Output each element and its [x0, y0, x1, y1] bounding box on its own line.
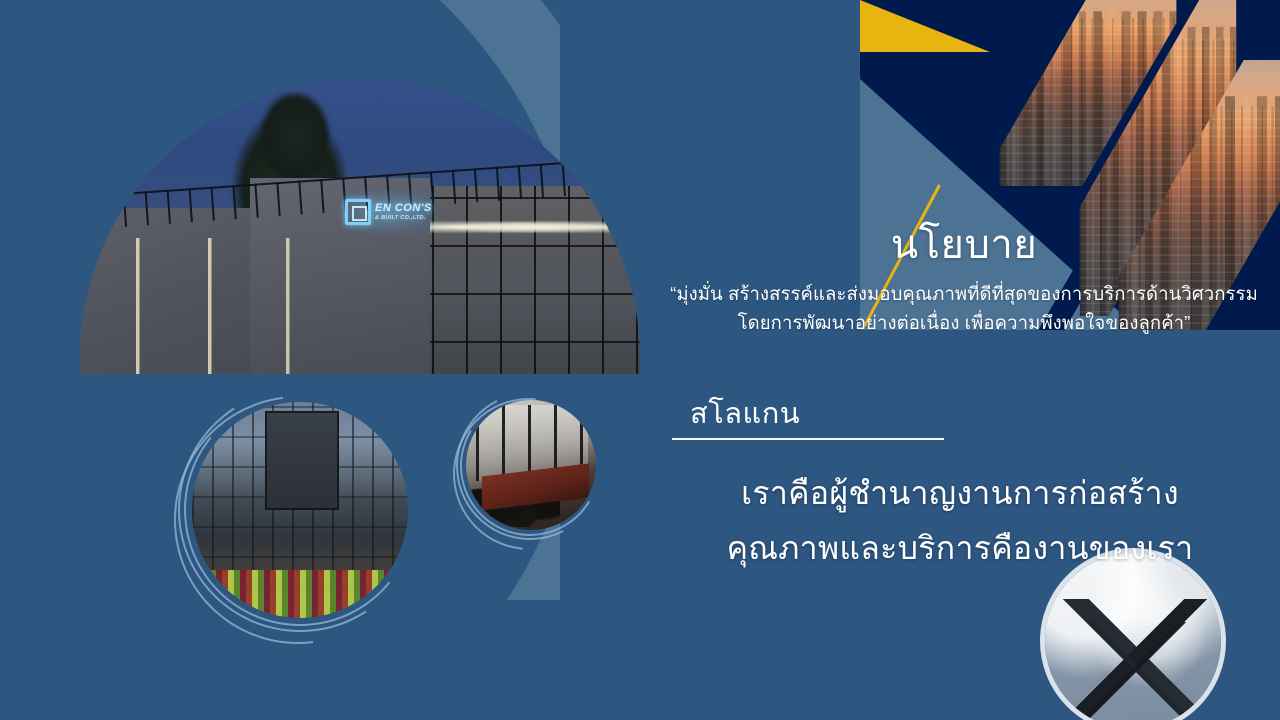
- slogan-divider: [672, 438, 944, 440]
- circle-photo-glass-facade: [192, 402, 408, 618]
- glass-curtain-wall: [398, 186, 640, 374]
- company-name-line1: EN CON'S: [375, 203, 432, 214]
- company-logo-icon: [345, 199, 371, 225]
- policy-quote-line1: “มุ่งมั่น สร้างสรรค์และส่งมอบคุณภาพที่ดี…: [648, 280, 1280, 309]
- policy-section: นโยบาย “มุ่งมั่น สร้างสรรค์และส่งมอบคุณภ…: [648, 222, 1280, 337]
- circle-photo-meeting-room: [466, 400, 596, 530]
- facade-light-slits: [100, 238, 400, 374]
- hero-building-photo: EN CON'S & BUILT CO.,LTD.: [80, 78, 640, 374]
- policy-quote: “มุ่งมั่น สร้างสรรค์และส่งมอบคุณภาพที่ดี…: [648, 280, 1280, 337]
- building-corner-shape: [1056, 599, 1218, 720]
- slogan-text: เราคือผู้ชำนาญงานการก่อสร้าง คุณภาพและบร…: [680, 466, 1240, 575]
- slide-canvas: EN CON'S & BUILT CO.,LTD.: [0, 0, 1280, 720]
- tower-block: [265, 411, 338, 510]
- sky-background-image: [1045, 553, 1221, 720]
- company-signage: EN CON'S & BUILT CO.,LTD.: [342, 190, 434, 234]
- conference-chairs: [469, 475, 560, 527]
- policy-quote-line2: โดยการพัฒนาอย่างต่อเนื่อง เพื่อความพึงพอ…: [648, 309, 1280, 338]
- slogan-section: สโลแกน เราคือผู้ชำนาญงานการก่อสร้าง คุณภ…: [672, 396, 1272, 575]
- policy-heading: นโยบาย: [648, 222, 1280, 268]
- glass-facade-image: [192, 402, 408, 618]
- company-name-line2: & BUILT CO.,LTD.: [375, 216, 432, 222]
- meeting-room-image: [466, 400, 596, 530]
- slogan-line2: คุณภาพและบริการคืองานของเรา: [680, 521, 1240, 575]
- circle-photo-small-group: [456, 392, 604, 540]
- slogan-label: สโลแกน: [672, 396, 1272, 432]
- company-signage-text: EN CON'S & BUILT CO.,LTD.: [375, 203, 432, 222]
- circle-photo-large-group: [178, 388, 422, 632]
- slogan-line1: เราคือผู้ชำนาญงานการก่อสร้าง: [680, 466, 1240, 520]
